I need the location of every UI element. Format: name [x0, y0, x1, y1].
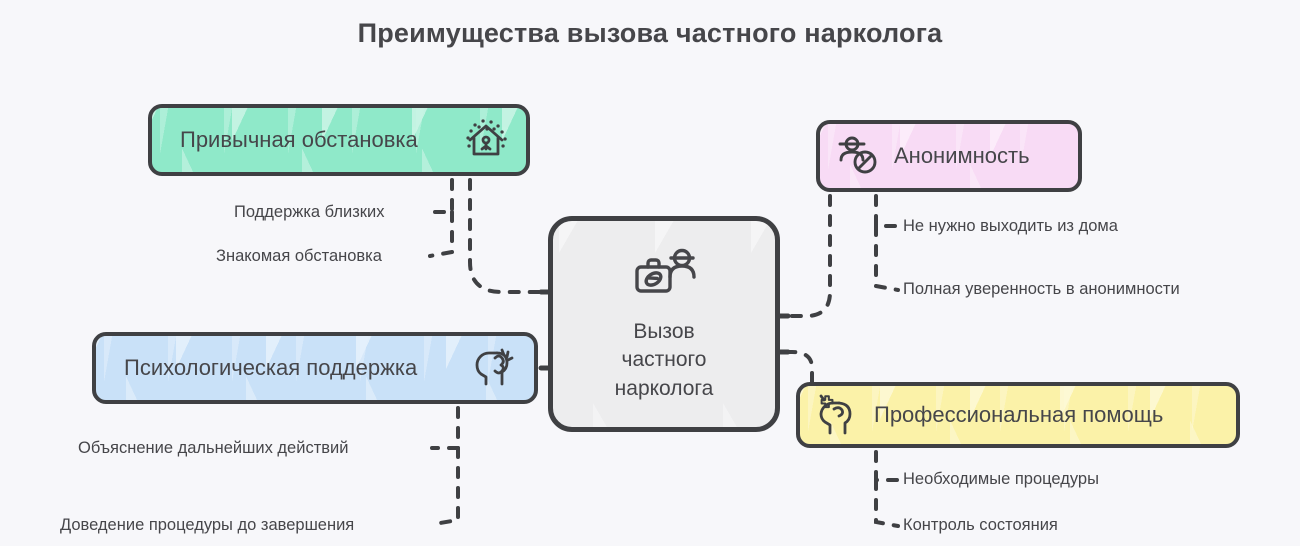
- leaf-item[interactable]: Доведение процедуры до завершения: [60, 516, 354, 535]
- wire-anon-to-center: [784, 196, 830, 316]
- center-label-line-3: нарколога: [615, 375, 714, 404]
- wire-prof-to-center: [784, 352, 812, 382]
- branch-label-professional: Профессиональная помощь: [874, 402, 1163, 428]
- center-node-label: Вызов частного нарколога: [615, 318, 714, 404]
- branch-node-anonymity[interactable]: Анонимность: [816, 120, 1082, 192]
- branch-node-home[interactable]: Привычная обстановка: [148, 104, 530, 176]
- wire-prof-item-1: [876, 480, 898, 526]
- center-label-line-2: частного: [615, 346, 714, 375]
- doctor-medical-bag-icon: [626, 245, 702, 306]
- wire-psy-item-1: [434, 448, 458, 524]
- leaf-item[interactable]: Поддержка близких: [234, 203, 384, 222]
- wire-anon-item-1: [876, 226, 898, 290]
- center-node[interactable]: Вызов частного нарколога: [548, 216, 780, 432]
- mindmap-canvas: Преимущества вызова частного нарколога: [0, 0, 1300, 546]
- center-label-line-1: Вызов: [615, 318, 714, 347]
- wire-home-item-0: [428, 180, 452, 212]
- leaf-item[interactable]: Объяснение дальнейших действий: [78, 439, 348, 458]
- person-prohibited-icon: [834, 134, 882, 178]
- leaf-item[interactable]: Контроль состояния: [903, 516, 1058, 535]
- branch-label-anonymity: Анонимность: [894, 143, 1030, 169]
- leaf-item[interactable]: Не нужно выходить из дома: [903, 217, 1118, 236]
- head-with-medical-cross-icon: [814, 393, 862, 437]
- leaf-item[interactable]: Знакомая обстановка: [216, 247, 382, 266]
- wire-anon-item-0: [876, 196, 898, 226]
- house-with-person-icon: [462, 116, 510, 164]
- leaf-item[interactable]: Необходимые процедуры: [903, 470, 1099, 489]
- branch-node-professional[interactable]: Профессиональная помощь: [796, 382, 1240, 448]
- head-with-brain-icon: [472, 346, 520, 390]
- branch-node-psychological[interactable]: Психологическая поддержка: [92, 332, 538, 404]
- wire-home-to-center: [470, 180, 548, 292]
- leaf-item[interactable]: Полная уверенность в анонимности: [903, 280, 1180, 299]
- wire-psy-item-0: [432, 408, 458, 448]
- branch-label-psychological: Психологическая поддержка: [124, 355, 417, 381]
- wire-prof-item-0: [876, 452, 898, 480]
- wire-home-item-1: [430, 212, 452, 256]
- branch-label-home: Привычная обстановка: [180, 127, 418, 153]
